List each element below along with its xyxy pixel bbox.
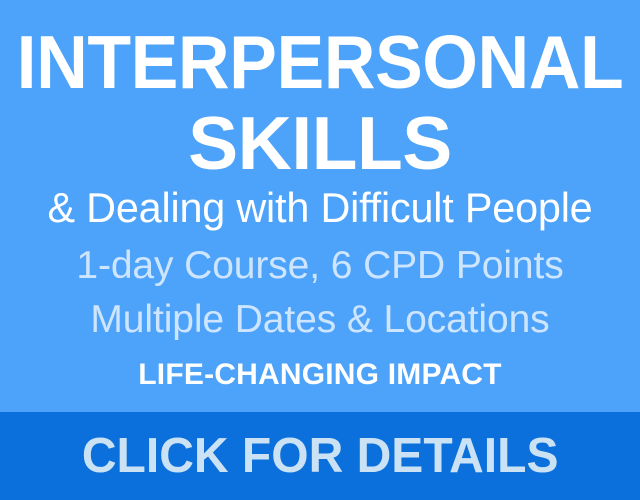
detail-line-course-duration: 1-day Course, 6 CPD Points <box>0 243 640 289</box>
advertisement-banner[interactable]: INTERPERSONAL SKILLS & Dealing with Diff… <box>0 0 640 500</box>
ad-copy-area: INTERPERSONAL SKILLS & Dealing with Diff… <box>0 0 640 412</box>
headline-line-1: INTERPERSONAL <box>14 22 625 103</box>
subheadline: & Dealing with Difficult People <box>5 183 635 233</box>
detail-line-dates-locations: Multiple Dates & Locations <box>0 297 640 343</box>
cta-bar[interactable]: CLICK FOR DETAILS <box>0 412 640 500</box>
cta-label: CLICK FOR DETAILS <box>82 430 559 482</box>
kicker-tagline: LIFE-CHANGING IMPACT <box>0 356 640 394</box>
headline-line-2: SKILLS <box>0 103 640 184</box>
